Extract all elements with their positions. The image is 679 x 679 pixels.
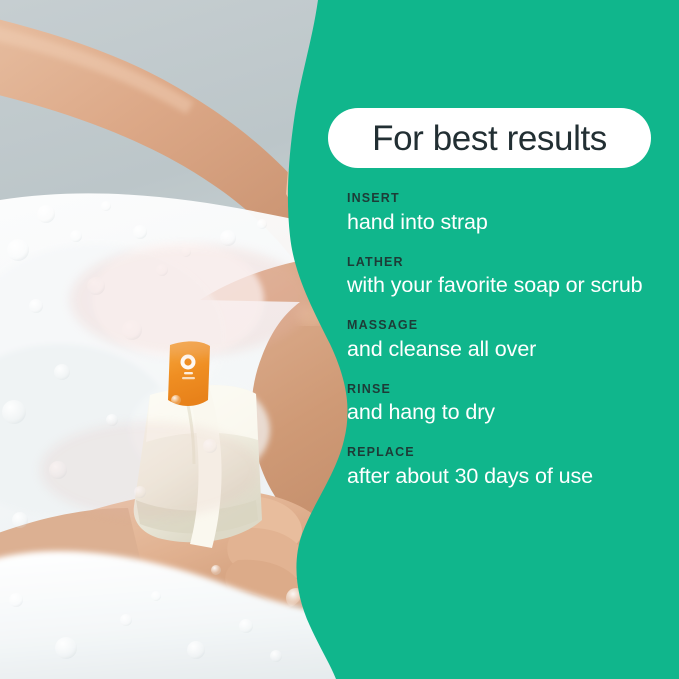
product-instruction-graphic: For best results INSERT hand into strap … [0, 0, 679, 679]
list-item-insert: INSERT hand into strap [347, 190, 659, 236]
step-description-rinse: and hang to dry [347, 399, 659, 426]
list-item-lather: LATHER with your favorite soap or scrub [347, 254, 659, 300]
step-description-insert: hand into strap [347, 209, 659, 236]
steps-list: INSERT hand into strap LATHER with your … [347, 190, 659, 490]
instructions-panel: For best results INSERT hand into strap … [347, 0, 657, 679]
step-label-insert: INSERT [347, 190, 659, 207]
page-title: For best results [372, 121, 607, 156]
list-item-rinse: RINSE and hang to dry [347, 381, 659, 427]
list-item-massage: MASSAGE and cleanse all over [347, 317, 659, 363]
step-label-replace: REPLACE [347, 444, 659, 461]
list-item-replace: REPLACE after about 30 days of use [347, 444, 659, 490]
step-description-replace: after about 30 days of use [347, 463, 659, 490]
title-pill: For best results [328, 108, 651, 168]
step-description-lather: with your favorite soap or scrub [347, 272, 659, 299]
step-label-massage: MASSAGE [347, 317, 659, 334]
step-label-lather: LATHER [347, 254, 659, 271]
step-label-rinse: RINSE [347, 381, 659, 398]
step-description-massage: and cleanse all over [347, 336, 659, 363]
